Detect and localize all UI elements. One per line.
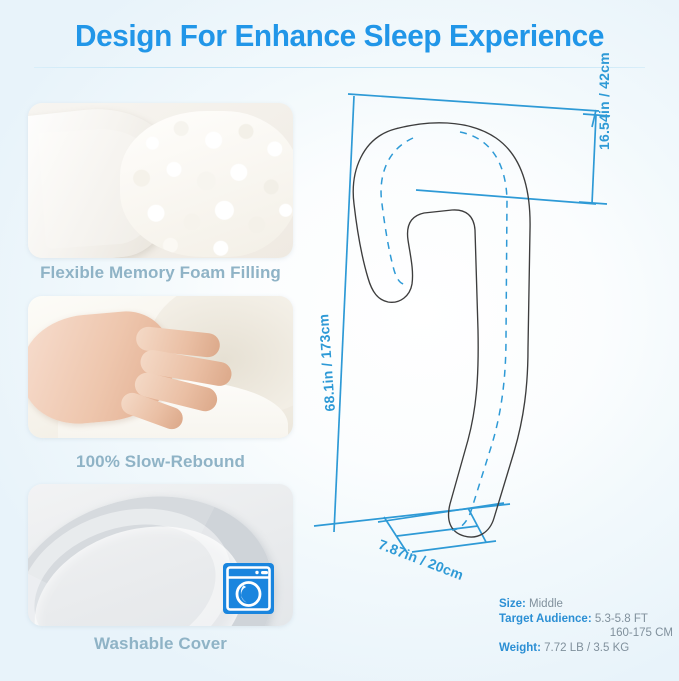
spec-value-weight: 7.72 LB / 3.5 KG [544, 642, 629, 654]
header: Design For Enhance Sleep Experience [0, 0, 679, 78]
spec-value-size: Middle [529, 598, 563, 610]
spec-list: Size: Middle Target Audience: 5.3-5.8 FT… [499, 597, 679, 655]
spec-row-size: Size: Middle [499, 597, 679, 612]
infographic-page: Design For Enhance Sleep Experience Flex… [0, 0, 679, 681]
feature-caption-memory-foam: Flexible Memory Foam Filling [28, 263, 293, 283]
seam-dashed-upper-left [381, 138, 413, 284]
dimension-label-height: 16.54in / 42cm [596, 52, 612, 150]
feature-caption-slow-rebound: 100% Slow-Rebound [28, 452, 293, 472]
spec-row-weight: Weight: 7.72 LB / 3.5 KG [499, 641, 679, 656]
feature-image-slow-rebound [28, 296, 293, 438]
spec-label-weight: Weight: [499, 642, 541, 654]
seam-dashed-right [452, 132, 507, 530]
pillow-dimension-diagram [300, 80, 679, 600]
spec-label-size: Size: [499, 598, 526, 610]
spec-label-audience: Target Audience: [499, 613, 592, 625]
page-title: Design For Enhance Sleep Experience [14, 16, 666, 56]
spec-value-audience-cm: 160-175 CM [610, 627, 673, 639]
washing-machine-icon [222, 562, 275, 615]
pillow-outline [353, 123, 530, 537]
spec-row-audience: Target Audience: 5.3-5.8 FT [499, 612, 679, 627]
spec-value-audience: 5.3-5.8 FT [595, 613, 648, 625]
spec-row-audience-cm: 160-175 CM [499, 626, 679, 641]
feature-image-memory-foam [28, 103, 293, 258]
shredded-foam-pile [120, 111, 293, 257]
title-divider [34, 67, 645, 68]
feature-caption-washable-cover: Washable Cover [28, 634, 293, 654]
feature-image-washable-cover [28, 484, 293, 626]
